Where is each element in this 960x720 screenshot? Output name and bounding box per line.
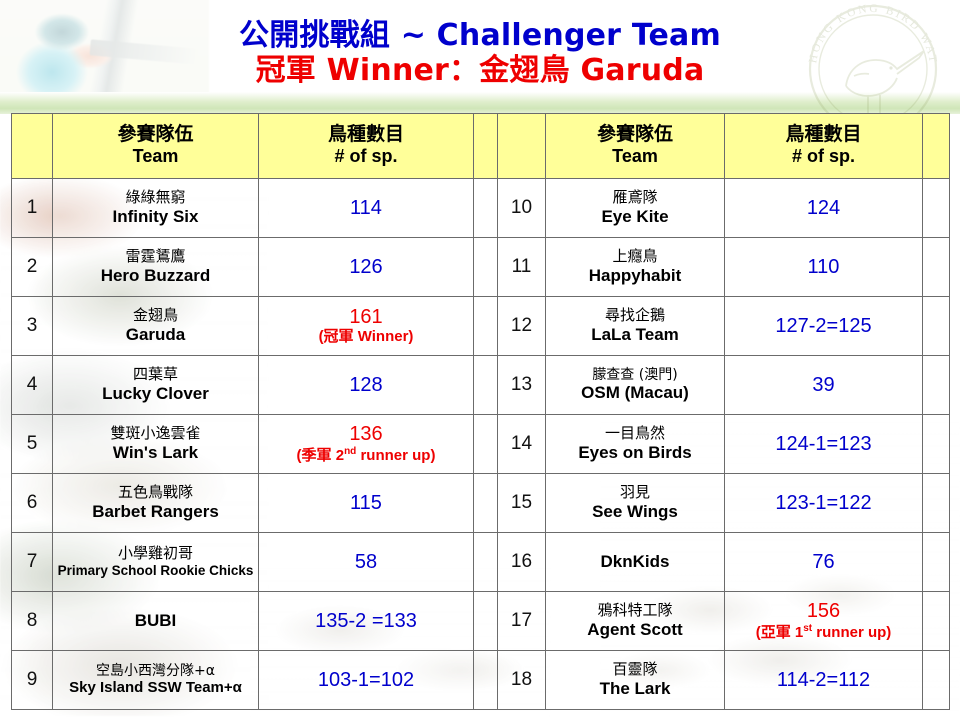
- team-name-cjk: 鴉科特工隊: [548, 602, 722, 620]
- team-name-en: The Lark: [548, 679, 722, 699]
- row-end-spacer: [923, 651, 950, 710]
- team-name-en: Garuda: [55, 325, 256, 345]
- row-end-spacer: [923, 533, 950, 592]
- species-count-cell-right: 127-2=125: [725, 297, 923, 356]
- team-name-en: Agent Scott: [548, 620, 722, 640]
- team-name-en: Eye Kite: [548, 207, 722, 227]
- table-row: 8BUBI135-2 =13317鴉科特工隊Agent Scott156(亞軍 …: [12, 592, 950, 651]
- team-name-en: Primary School Rookie Chicks: [55, 563, 256, 579]
- species-count: 127-2=125: [727, 315, 920, 338]
- row-spacer: [474, 533, 498, 592]
- table-header-row: 參賽隊伍 Team 鳥種數目 # of sp. 參賽隊伍 Team 鳥種數目 #…: [12, 114, 950, 179]
- species-count-cell-left: 128: [259, 356, 474, 415]
- team-name-en: LaLa Team: [548, 325, 722, 345]
- species-count: 126: [261, 256, 471, 279]
- team-name-cjk: 雷霆鵟鷹: [55, 248, 256, 266]
- header-count-right-en: # of sp.: [727, 146, 920, 168]
- table-row: 2雷霆鵟鷹Hero Buzzard12611上癮鳥Happyhabit110: [12, 238, 950, 297]
- page-title: 公開挑戰組 ~ Challenger Team 冠軍 Winner：金翅鳥 Ga…: [0, 0, 960, 89]
- rank-cell-right: 17: [498, 592, 546, 651]
- team-name-cjk: 尋找企鵝: [548, 307, 722, 325]
- row-spacer: [474, 474, 498, 533]
- rank-cell-right: 11: [498, 238, 546, 297]
- team-name-cjk: 小學雞初哥: [55, 545, 256, 563]
- table-row: 6五色鳥戰隊Barbet Rangers11515羽見See Wings123-…: [12, 474, 950, 533]
- team-cell-right: 鴉科特工隊Agent Scott: [546, 592, 725, 651]
- team-cell-right: 一目鳥然Eyes on Birds: [546, 415, 725, 474]
- header-team-left-en: Team: [55, 146, 256, 168]
- header-team-left-cjk: 參賽隊伍: [55, 124, 256, 146]
- team-name-en: Barbet Rangers: [55, 502, 256, 522]
- species-count-cell-left: 161(冠軍 Winner): [259, 297, 474, 356]
- team-name-en: Hero Buzzard: [55, 266, 256, 286]
- species-count: 114-2=112: [727, 669, 920, 692]
- team-cell-left: BUBI: [53, 592, 259, 651]
- title-line-challenger: 公開挑戰組 ~ Challenger Team: [0, 18, 960, 53]
- team-cell-left: 五色鳥戰隊Barbet Rangers: [53, 474, 259, 533]
- rank-cell-right: 15: [498, 474, 546, 533]
- team-cell-right: 羽見See Wings: [546, 474, 725, 533]
- row-spacer: [474, 179, 498, 238]
- row-end-spacer: [923, 297, 950, 356]
- table-body: 1綠綠無窮Infinity Six11410雁鳶隊Eye Kite1242雷霆鵟…: [12, 179, 950, 710]
- award-note: (季軍 2nd runner up): [261, 446, 471, 465]
- species-count: 136: [261, 423, 471, 446]
- rank-cell-left: 7: [12, 533, 53, 592]
- rank-cell-left: 5: [12, 415, 53, 474]
- species-count: 124-1=123: [727, 433, 920, 456]
- header-rank-right: [498, 114, 546, 179]
- table-row: 4四葉草Lucky Clover12813朦查查 (澳門)OSM (Macau)…: [12, 356, 950, 415]
- header-count-right-cjk: 鳥種數目: [727, 124, 920, 146]
- team-name-cjk: 朦查查 (澳門): [548, 367, 722, 384]
- header-spacer: [474, 114, 498, 179]
- rank-cell-right: 10: [498, 179, 546, 238]
- species-count-cell-left: 135-2 =133: [259, 592, 474, 651]
- rank-cell-right: 13: [498, 356, 546, 415]
- species-count-cell-right: 76: [725, 533, 923, 592]
- table-row: 9空島小西灣分隊+αSky Island SSW Team+α103-1=102…: [12, 651, 950, 710]
- team-name-cjk: 空島小西灣分隊+α: [55, 663, 256, 680]
- rank-cell-right: 12: [498, 297, 546, 356]
- team-cell-left: 金翅鳥Garuda: [53, 297, 259, 356]
- rank-cell-left: 6: [12, 474, 53, 533]
- team-name-cjk: 一目鳥然: [548, 425, 722, 443]
- header-team-right: 參賽隊伍 Team: [546, 114, 725, 179]
- team-name-en: Happyhabit: [548, 266, 722, 286]
- row-end-spacer: [923, 474, 950, 533]
- rank-cell-right: 18: [498, 651, 546, 710]
- team-name-cjk: 雁鳶隊: [548, 189, 722, 207]
- team-name-cjk: 五色鳥戰隊: [55, 484, 256, 502]
- row-spacer: [474, 297, 498, 356]
- rank-cell-left: 8: [12, 592, 53, 651]
- row-spacer: [474, 415, 498, 474]
- species-count: 114: [261, 197, 471, 220]
- rank-cell-left: 1: [12, 179, 53, 238]
- team-name-cjk: 上癮鳥: [548, 248, 722, 266]
- award-note: (亞軍 1st runner up): [727, 623, 920, 642]
- team-name-cjk: 雙斑小逸雲雀: [55, 425, 256, 443]
- species-count-cell-left: 115: [259, 474, 474, 533]
- species-count: 58: [261, 551, 471, 574]
- species-count: 103-1=102: [261, 669, 471, 692]
- species-count-cell-left: 103-1=102: [259, 651, 474, 710]
- rank-cell-left: 2: [12, 238, 53, 297]
- table-row: 1綠綠無窮Infinity Six11410雁鳶隊Eye Kite124: [12, 179, 950, 238]
- row-spacer: [474, 238, 498, 297]
- team-name-en: DknKids: [548, 552, 722, 572]
- header-count-left-en: # of sp.: [261, 146, 471, 168]
- header-rank-left: [12, 114, 53, 179]
- header-count-left-cjk: 鳥種數目: [261, 124, 471, 146]
- team-name-cjk: 四葉草: [55, 366, 256, 384]
- team-cell-right: 百靈隊The Lark: [546, 651, 725, 710]
- team-cell-right: 朦查查 (澳門)OSM (Macau): [546, 356, 725, 415]
- row-spacer: [474, 356, 498, 415]
- table-row: 7小學雞初哥Primary School Rookie Chicks5816Dk…: [12, 533, 950, 592]
- species-count-cell-right: 124-1=123: [725, 415, 923, 474]
- species-count: 76: [727, 551, 920, 574]
- team-name-en: Win's Lark: [55, 443, 256, 463]
- table-row: 5雙斑小逸雲雀Win's Lark136(季軍 2nd runner up)14…: [12, 415, 950, 474]
- row-end-spacer: [923, 592, 950, 651]
- header-team-right-cjk: 參賽隊伍: [548, 124, 722, 146]
- rank-cell-right: 16: [498, 533, 546, 592]
- species-count: 39: [727, 374, 920, 397]
- title-line-winner: 冠軍 Winner：金翅鳥 Garuda: [0, 53, 960, 88]
- species-count: 135-2 =133: [261, 610, 471, 633]
- team-cell-right: 雁鳶隊Eye Kite: [546, 179, 725, 238]
- team-cell-right: 尋找企鵝LaLa Team: [546, 297, 725, 356]
- row-end-spacer: [923, 415, 950, 474]
- header-team-right-en: Team: [548, 146, 722, 168]
- row-end-spacer: [923, 238, 950, 297]
- row-end-spacer: [923, 179, 950, 238]
- team-name-en: BUBI: [55, 611, 256, 631]
- team-cell-left: 四葉草Lucky Clover: [53, 356, 259, 415]
- team-name-en: Infinity Six: [55, 207, 256, 227]
- rank-cell-left: 9: [12, 651, 53, 710]
- team-name-cjk: 羽見: [548, 484, 722, 502]
- team-name-cjk: 百靈隊: [548, 661, 722, 679]
- species-count-cell-right: 110: [725, 238, 923, 297]
- team-name-cjk: 綠綠無窮: [55, 189, 256, 207]
- species-count-cell-right: 124: [725, 179, 923, 238]
- team-name-en: Eyes on Birds: [548, 443, 722, 463]
- species-count-cell-right: 123-1=122: [725, 474, 923, 533]
- species-count: 124: [727, 197, 920, 220]
- team-cell-right: DknKids: [546, 533, 725, 592]
- row-spacer: [474, 592, 498, 651]
- species-count-cell-left: 126: [259, 238, 474, 297]
- team-cell-left: 雙斑小逸雲雀Win's Lark: [53, 415, 259, 474]
- header-team-left: 參賽隊伍 Team: [53, 114, 259, 179]
- team-name-en: See Wings: [548, 502, 722, 522]
- rank-cell-right: 14: [498, 415, 546, 474]
- row-end-spacer: [923, 356, 950, 415]
- species-count-cell-left: 114: [259, 179, 474, 238]
- team-cell-left: 雷霆鵟鷹Hero Buzzard: [53, 238, 259, 297]
- team-cell-left: 空島小西灣分隊+αSky Island SSW Team+α: [53, 651, 259, 710]
- species-count: 123-1=122: [727, 492, 920, 515]
- team-cell-left: 小學雞初哥Primary School Rookie Chicks: [53, 533, 259, 592]
- rank-cell-left: 3: [12, 297, 53, 356]
- team-cell-left: 綠綠無窮Infinity Six: [53, 179, 259, 238]
- team-name-cjk: 金翅鳥: [55, 307, 256, 325]
- species-count: 161: [261, 306, 471, 329]
- species-count-cell-right: 39: [725, 356, 923, 415]
- species-count-cell-right: 156(亞軍 1st runner up): [725, 592, 923, 651]
- species-count: 115: [261, 492, 471, 515]
- team-name-en: Sky Island SSW Team+α: [55, 679, 256, 697]
- table-row: 3金翅鳥Garuda161(冠軍 Winner)12尋找企鵝LaLa Team1…: [12, 297, 950, 356]
- header-count-left: 鳥種數目 # of sp.: [259, 114, 474, 179]
- team-cell-right: 上癮鳥Happyhabit: [546, 238, 725, 297]
- team-name-en: Lucky Clover: [55, 384, 256, 404]
- award-note: (冠軍 Winner): [261, 329, 471, 346]
- species-count-cell-right: 114-2=112: [725, 651, 923, 710]
- header-count-right: 鳥種數目 # of sp.: [725, 114, 923, 179]
- rank-cell-left: 4: [12, 356, 53, 415]
- results-table: 參賽隊伍 Team 鳥種數目 # of sp. 參賽隊伍 Team 鳥種數目 #…: [11, 113, 950, 710]
- header-end-spacer: [923, 114, 950, 179]
- species-count: 156: [727, 600, 920, 623]
- species-count: 110: [727, 256, 920, 279]
- team-name-en: OSM (Macau): [548, 383, 722, 403]
- species-count-cell-left: 58: [259, 533, 474, 592]
- row-spacer: [474, 651, 498, 710]
- species-count: 128: [261, 374, 471, 397]
- species-count-cell-left: 136(季軍 2nd runner up): [259, 415, 474, 474]
